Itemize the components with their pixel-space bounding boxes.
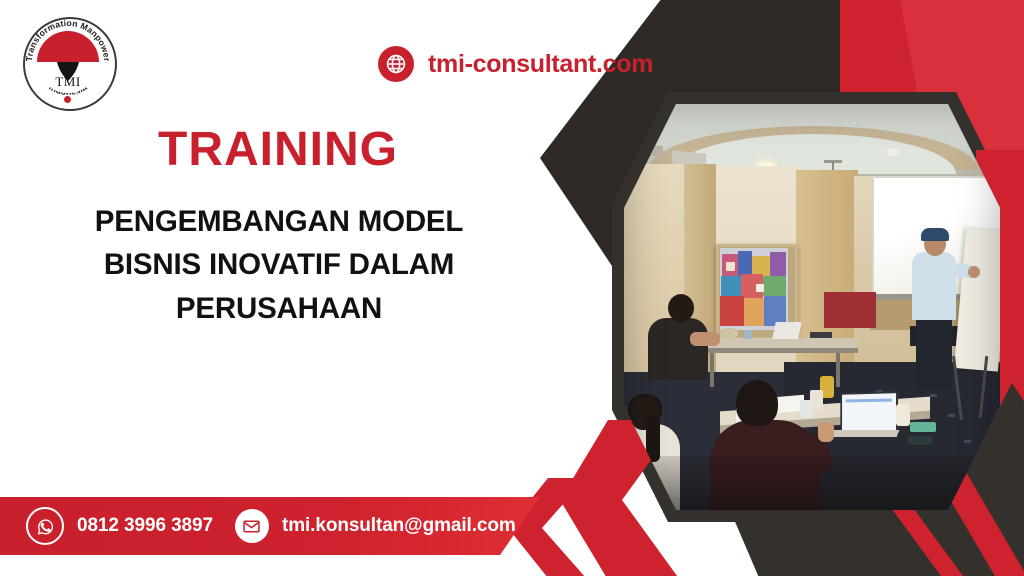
contact-items: 0812 3996 3897 tmi.konsultan@gmail.com	[0, 497, 516, 555]
contact-phone[interactable]: 0812 3996 3897	[26, 507, 213, 545]
title-line-2: BISNIS INOVATIF DALAM	[40, 243, 518, 286]
company-logo: Transformation Manpower Indonesia TMI	[14, 14, 118, 110]
logo-red-dot	[64, 96, 71, 103]
title-line-1: PENGEMBANGAN MODEL	[40, 200, 518, 243]
training-photo	[624, 104, 1000, 510]
flyer-canvas: Transformation Manpower Indonesia TMI	[0, 0, 1024, 576]
globe-icon	[378, 46, 414, 82]
website-line[interactable]: tmi-consultant.com	[378, 46, 653, 82]
whatsapp-icon	[26, 507, 64, 545]
logo-monogram: TMI	[37, 74, 99, 90]
mail-icon	[235, 509, 269, 543]
phone-number: 0812 3996 3897	[77, 515, 213, 537]
website-url: tmi-consultant.com	[428, 50, 653, 79]
contact-email[interactable]: tmi.konsultan@gmail.com	[235, 509, 516, 543]
page-title: PENGEMBANGAN MODEL BISNIS INOVATIF DALAM…	[40, 200, 518, 330]
email-address: tmi.konsultan@gmail.com	[282, 515, 516, 537]
eyebrow-heading: TRAINING	[62, 122, 494, 177]
title-line-3: PERUSAHAAN	[40, 287, 518, 330]
